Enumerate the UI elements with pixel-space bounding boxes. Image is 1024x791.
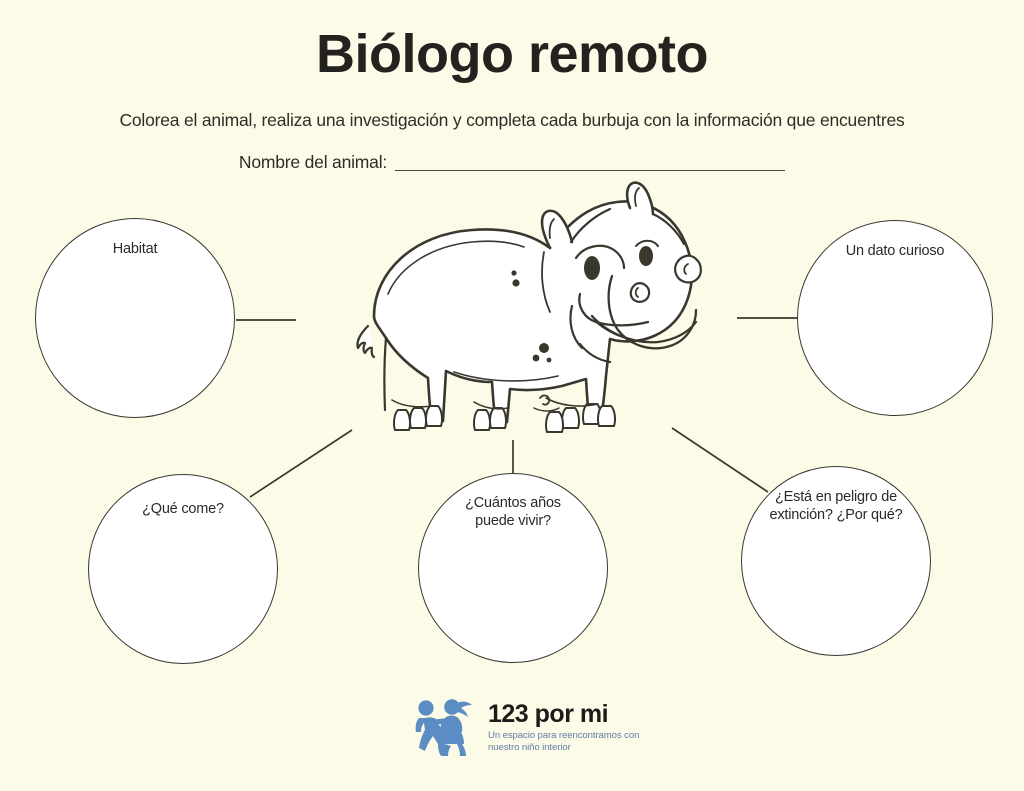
bubble-habitat-label: Habitat [50, 241, 220, 259]
bubble-dato-curioso[interactable]: Un dato curioso [797, 220, 993, 416]
brand-name: 123 por mi [488, 702, 639, 727]
bubble-cuantos-anos-label: ¿Cuántos años puede vivir? [432, 495, 594, 530]
hippo-illustration [344, 176, 744, 476]
bubble-que-come-label: ¿Qué come? [102, 501, 264, 519]
logo-text-block: 123 por mi Un espacio para reencontramos… [488, 702, 639, 755]
footer-logo: 123 por mi Un espacio para reencontramos… [412, 699, 639, 757]
connector-come [250, 430, 352, 497]
page-title: Biólogo remoto [0, 26, 1024, 83]
worksheet-page: Biólogo remoto Colorea el animal, realiz… [0, 0, 1024, 791]
two-children-logo-icon [412, 699, 478, 757]
bubble-peligro-extincion[interactable]: ¿Está en peligro de extinción? ¿Por qué? [741, 466, 931, 656]
animal-name-label: Nombre del animal: [239, 152, 387, 172]
animal-name-field: Nombre del animal: [0, 152, 1024, 173]
bubble-que-come[interactable]: ¿Qué come? [88, 474, 278, 664]
animal-name-input[interactable] [395, 156, 785, 171]
bubble-dato-curioso-label: Un dato curioso [812, 243, 979, 261]
brand-tagline: Un espacio para reencontramos con nuestr… [488, 730, 639, 755]
bubble-cuantos-anos[interactable]: ¿Cuántos años puede vivir? [418, 473, 608, 663]
page-subtitle: Colorea el animal, realiza una investiga… [0, 110, 1024, 131]
bubble-peligro-extincion-label: ¿Está en peligro de extinción? ¿Por qué? [755, 489, 917, 524]
bubble-habitat[interactable]: Habitat [35, 218, 235, 418]
